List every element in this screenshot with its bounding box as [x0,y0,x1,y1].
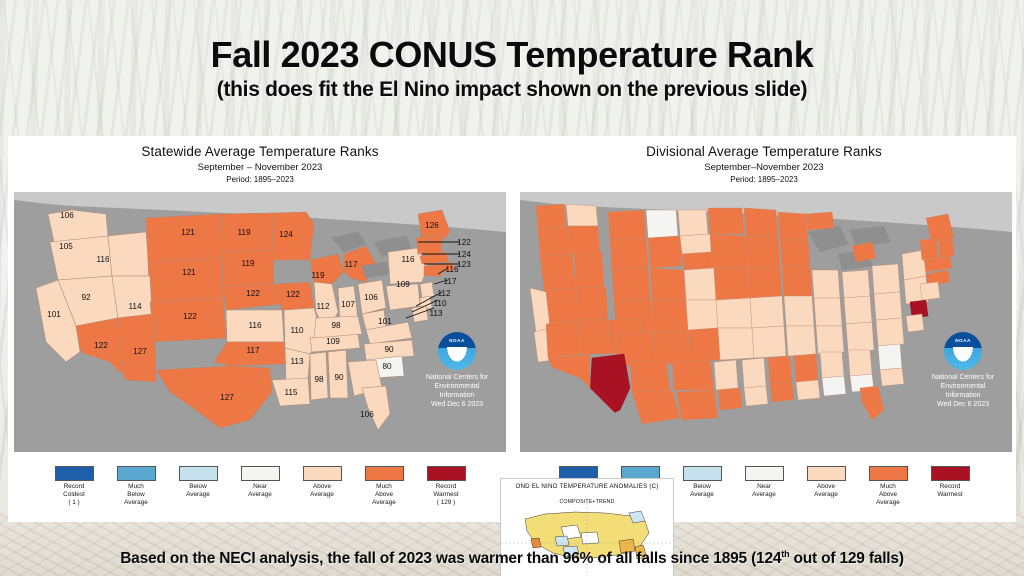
legend-label-1: Record [940,483,961,490]
legend-label-2: Average [310,491,334,498]
panel-statewide-record-period: Period: 1895–2023 [8,175,512,184]
legend-label-2: Average [690,491,714,498]
legend-item[interactable]: Record Warmest ( 129 ) [415,464,477,506]
slide-caption: Based on the NECI analysis, the fall of … [0,549,1024,568]
svg-text:116: 116 [248,321,261,330]
legend-label-2: Below [127,491,144,498]
legend-item[interactable]: Near Average [229,464,291,499]
legend-label-2: Average [752,491,776,498]
caption-pre: Based on the NECI analysis, the fall of … [120,550,781,567]
noaa-seal-icon: NOAA ▼ [438,332,476,370]
svg-text:112: 112 [437,289,450,298]
legend-label-2: Warmest [433,491,458,498]
legend-swatch [427,466,466,481]
svg-text:127: 127 [133,347,147,356]
svg-text:106: 106 [360,410,374,419]
page-title: Fall 2023 CONUS Temperature Rank [0,36,1024,74]
svg-text:101: 101 [378,317,392,326]
svg-text:122: 122 [286,290,300,299]
noaa-wordmark: NOAA [449,338,465,343]
svg-text:114: 114 [128,302,141,311]
svg-text:101: 101 [47,310,61,319]
svg-text:119: 119 [241,259,254,268]
svg-text:115: 115 [284,388,297,397]
legend-item[interactable]: Much Above Average [353,464,415,506]
noaa-line2: Environmental [908,382,1012,391]
svg-text:124: 124 [279,230,293,239]
svg-text:105: 105 [59,242,73,251]
legend-swatch [931,466,970,481]
legend-label-1: Near [253,483,267,490]
statewide-map-svg: 106 105 116 121 119 124 119 121 122 119 … [14,192,506,452]
legend-item[interactable]: Record Warmest [919,464,981,499]
legend-item[interactable]: Above Average [795,464,857,499]
svg-text:112: 112 [316,302,329,311]
legend-item[interactable]: Much Below Average [105,464,167,506]
legend-item[interactable]: Above Average [291,464,353,499]
svg-text:116: 116 [96,255,109,264]
svg-text:122: 122 [457,238,471,247]
figure-band: Statewide Average Temperature Ranks Sept… [8,136,1016,522]
slide-root: Fall 2023 CONUS Temperature Rank (this d… [0,0,1024,576]
legend-label-1: Record [64,483,85,490]
page-subtitle: (this does fit the El Nino impact shown … [0,78,1024,102]
legend-label-2: Average [248,491,272,498]
svg-text:127: 127 [220,393,234,402]
legend-label-2: Above [375,491,393,498]
legend-swatch [179,466,218,481]
title-block: Fall 2023 CONUS Temperature Rank (this d… [0,36,1024,102]
noaa-caption-right: National Centers for Environmental Infor… [908,373,1012,409]
statewide-map[interactable]: 106 105 116 121 119 124 119 121 122 119 … [14,192,506,452]
panel-divisional-record-period: Period: 1895–2023 [512,175,1016,184]
noaa-line2: Environmental [402,382,506,391]
legend-label-2: Warmest [937,491,962,498]
divisional-map[interactable]: NOAA ▼ National Centers for Environmenta… [520,192,1012,452]
svg-text:90: 90 [384,345,394,354]
legend-label-1: Above [313,483,331,490]
noaa-line1: National Centers for [402,373,506,382]
legend-swatch [745,466,784,481]
svg-text:107: 107 [341,300,355,309]
svg-text:121: 121 [181,228,195,237]
svg-text:113: 113 [290,357,303,366]
svg-text:116: 116 [401,255,414,264]
noaa-logo-right: NOAA ▼ National Centers for Environmenta… [908,332,1012,409]
legend-label-2: Average [186,491,210,498]
caption-post: out of 129 falls) [789,550,903,567]
panel-statewide-title-block: Statewide Average Temperature Ranks Sept… [8,144,512,184]
legend-label-3: Average [876,499,900,506]
legend-item[interactable]: Below Average [167,464,229,499]
legend-label-2: Average [814,491,838,498]
noaa-wordmark: NOAA [955,338,971,343]
svg-text:119: 119 [237,228,250,237]
legend-label-2: Above [879,491,897,498]
svg-text:92: 92 [81,293,91,302]
legend-statewide: Record Coldest ( 1 ) Much Below Average … [8,464,512,520]
noaa-line4: Wed Dec 6 2023 [402,400,506,409]
inset-title: OND EL NINO TEMPERATURE ANOMALIES (C) [501,483,673,490]
legend-label-1: Much [376,483,392,490]
panel-divisional-title-block: Divisional Average Temperature Ranks Sep… [512,144,1016,184]
svg-text:116: 116 [445,265,458,274]
svg-text:109: 109 [326,337,340,346]
svg-text:106: 106 [364,293,378,302]
svg-text:110: 110 [433,299,446,308]
panel-divisional-title: Divisional Average Temperature Ranks [512,144,1016,159]
svg-text:119: 119 [311,271,324,280]
panel-statewide-period: September – November 2023 [8,162,512,173]
legend-swatch [683,466,722,481]
legend-swatch [55,466,94,481]
legend-label-2: Coldest [63,491,85,498]
svg-text:106: 106 [60,211,74,220]
svg-text:117: 117 [246,346,259,355]
legend-item[interactable]: Record Coldest ( 1 ) [43,464,105,506]
panel-statewide-title: Statewide Average Temperature Ranks [8,144,512,159]
divisional-map-svg [520,192,1012,452]
legend-label-1: Below [189,483,206,490]
legend-item[interactable]: Below Average [671,464,733,499]
legend-swatch [869,466,908,481]
legend-item[interactable]: Much Above Average [857,464,919,506]
noaa-gull-icon: ▼ [450,349,464,364]
legend-label-1: Below [693,483,710,490]
legend-swatch [303,466,342,481]
svg-text:90: 90 [334,373,344,382]
legend-label-1: Above [817,483,835,490]
svg-text:117: 117 [344,260,357,269]
legend-swatch [117,466,156,481]
svg-text:109: 109 [396,280,410,289]
svg-text:122: 122 [94,341,108,350]
legend-swatch [807,466,846,481]
svg-text:121: 121 [182,268,196,277]
svg-text:110: 110 [290,326,303,335]
svg-text:124: 124 [457,250,471,259]
legend-label-1: Record [436,483,457,490]
noaa-seal-icon: NOAA ▼ [944,332,982,370]
svg-text:126: 126 [425,221,439,230]
svg-text:117: 117 [443,277,456,286]
noaa-line1: National Centers for [908,373,1012,382]
legend-label-1: Much [128,483,144,490]
svg-text:98: 98 [314,375,324,384]
svg-text:98: 98 [331,321,341,330]
noaa-line3: Information [908,391,1012,400]
svg-text:122: 122 [183,312,197,321]
legend-label-3: ( 1 ) [68,499,79,506]
legend-label-3: Average [124,499,148,506]
noaa-line4: Wed Dec 6 2023 [908,400,1012,409]
noaa-line3: Information [402,391,506,400]
svg-text:80: 80 [382,362,392,371]
legend-swatch [365,466,404,481]
legend-label-3: Average [372,499,396,506]
noaa-logo-left: NOAA ▼ National Centers for Environmenta… [402,332,506,409]
svg-text:122: 122 [246,289,260,298]
noaa-gull-icon: ▼ [956,349,970,364]
legend-label-3: ( 129 ) [437,499,455,506]
panel-divisional-period: September–November 2023 [512,162,1016,173]
panel-statewide: Statewide Average Temperature Ranks Sept… [8,136,512,522]
legend-label-1: Near [757,483,771,490]
noaa-caption-left: National Centers for Environmental Infor… [402,373,506,409]
svg-text:123: 123 [457,260,471,269]
svg-text:113: 113 [429,309,442,318]
panel-divisional: Divisional Average Temperature Ranks Sep… [512,136,1016,522]
legend-item[interactable]: Near Average [733,464,795,499]
legend-swatch [241,466,280,481]
legend-label-1: Much [880,483,896,490]
